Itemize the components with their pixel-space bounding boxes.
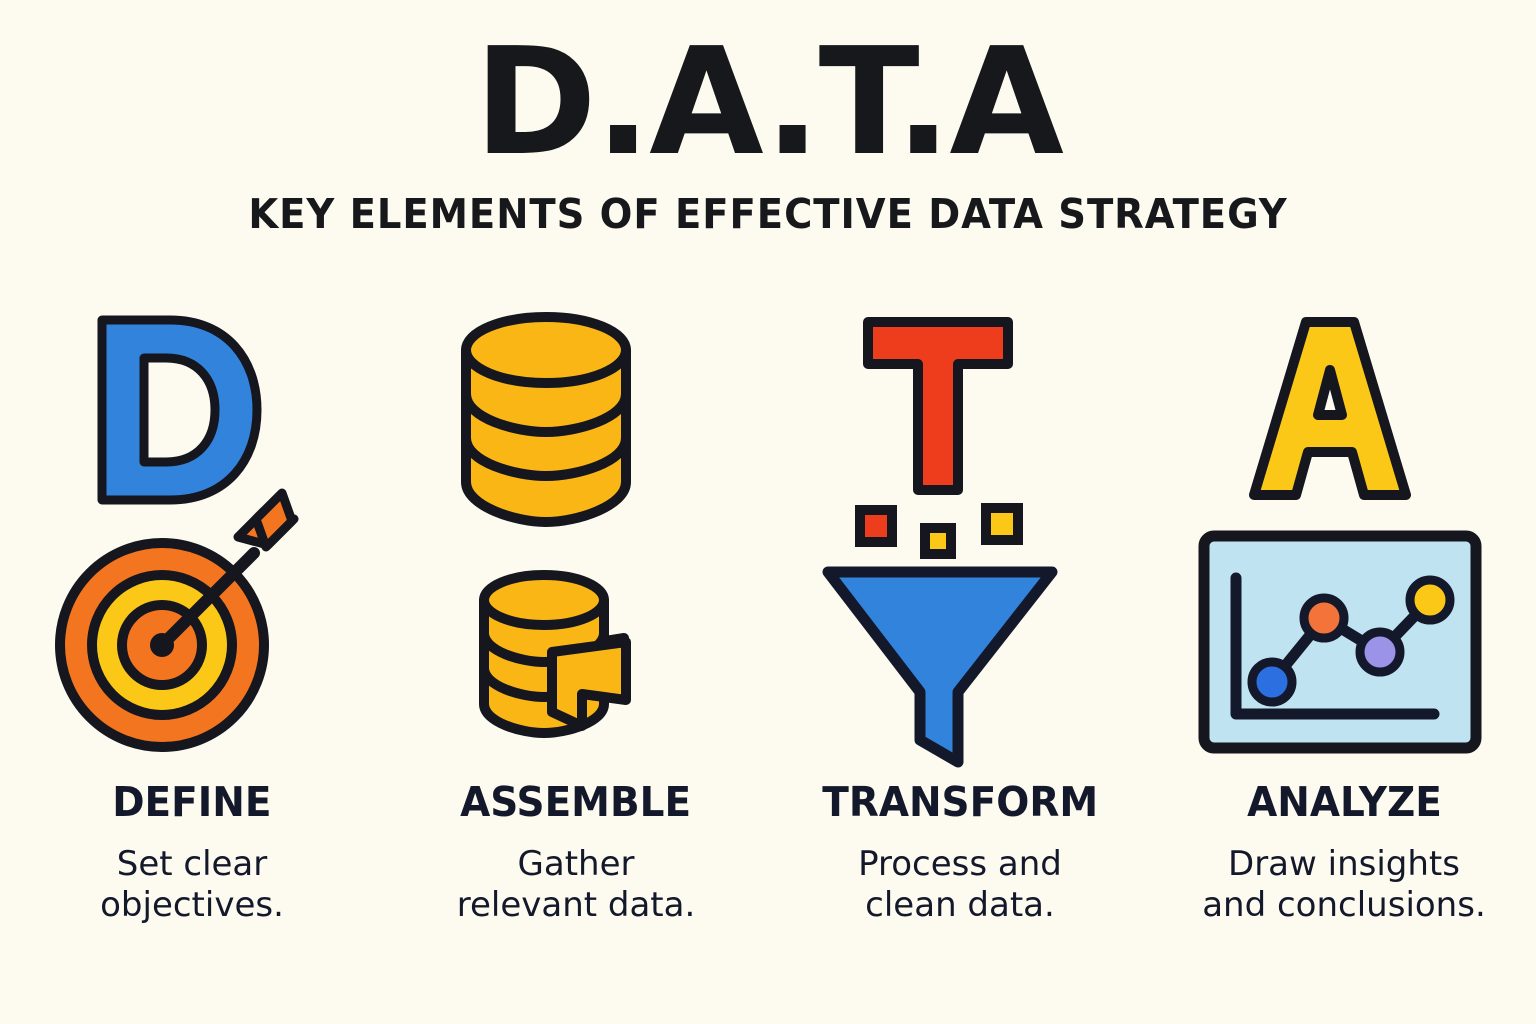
description-transform: Process and clean data. <box>858 844 1062 927</box>
description-define: Set clear objectives. <box>100 844 284 927</box>
chart-point-1 <box>1252 662 1292 702</box>
heading-assemble: ASSEMBLE <box>461 778 692 826</box>
transform-artwork <box>810 300 1110 770</box>
page-subtitle: KEY ELEMENTS OF EFFECTIVE DATA STRATEGY <box>46 176 1490 238</box>
column-transform: TRANSFORM Process and clean data. <box>768 300 1152 1000</box>
columns-container: DEFINE Set clear objectives. <box>0 300 1536 1000</box>
heading-transform: TRANSFORM <box>822 778 1098 826</box>
line-chart-panel-icon <box>1204 536 1476 748</box>
description-assemble: Gather relevant data. <box>457 844 696 927</box>
column-assemble: ASSEMBLE Gather relevant data. <box>384 300 768 1000</box>
chart-point-4 <box>1410 580 1450 620</box>
heading-analyze: ANALYZE <box>1247 778 1442 826</box>
description-analyze: Draw insights and conclusions. <box>1202 844 1486 927</box>
transform-icon-group <box>810 300 1110 770</box>
define-artwork <box>42 300 342 770</box>
chart-point-3 <box>1360 632 1400 672</box>
define-icon-group <box>42 300 342 770</box>
column-analyze: ANALYZE Draw insights and conclusions. <box>1152 300 1536 1000</box>
letter-a-icon <box>1254 322 1406 495</box>
infographic-poster: D.A.T.A KEY ELEMENTS OF EFFECTIVE DATA S… <box>0 0 1536 1024</box>
assemble-artwork <box>426 300 726 770</box>
analyze-artwork <box>1194 300 1494 770</box>
database-small-flag-icon <box>484 575 626 733</box>
heading-define: DEFINE <box>112 778 271 826</box>
analyze-icon-group <box>1194 300 1494 770</box>
chart-point-2 <box>1304 598 1344 638</box>
data-squares-icon <box>860 508 1018 554</box>
column-define: DEFINE Set clear objectives. <box>0 300 384 1000</box>
letter-t-icon <box>868 322 1008 490</box>
database-large-icon <box>466 317 626 522</box>
poster-header: D.A.T.A KEY ELEMENTS OF EFFECTIVE DATA S… <box>0 0 1536 238</box>
assemble-icon-group <box>426 300 726 770</box>
funnel-icon <box>828 572 1052 762</box>
page-title: D.A.T.A <box>0 0 1536 176</box>
letter-d-icon <box>102 320 257 500</box>
target-with-arrow-icon <box>60 493 294 747</box>
